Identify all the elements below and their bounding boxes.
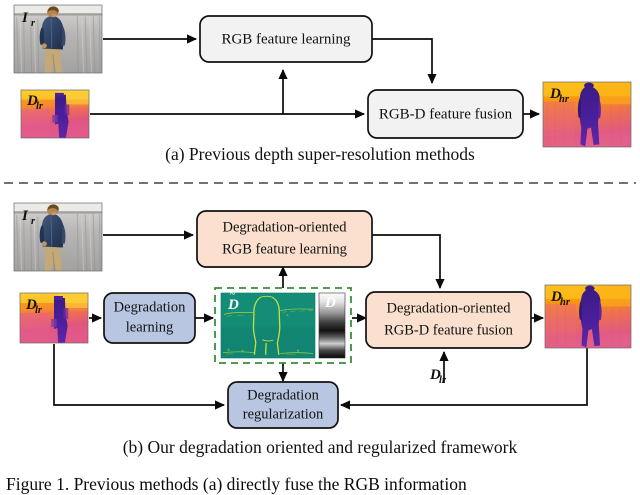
panel-b-dorff-line1: Degradation-oriented (386, 300, 511, 316)
degradation-colorbar: D (319, 293, 345, 358)
panel-b-caption: (b) Our degradation oriented and regular… (0, 437, 640, 458)
panel-b-dl-line1: Degradation (114, 299, 186, 315)
panel-b-block-degradation-learning[interactable]: Degradation learning (104, 293, 195, 343)
panel-b-rgb-input: I r (14, 203, 102, 271)
arrow-depthlr-to-regularization (54, 344, 224, 405)
panel-b-depth-hr-sub: hr (560, 297, 571, 308)
panel-b-dr-line1: Degradation (247, 387, 319, 403)
degradation-map-tilde: ~ (230, 288, 236, 300)
panel-a-block-rgb-feature-learning[interactable]: RGB feature learning (200, 16, 372, 62)
panel-a-block-rgb-d-feature-fusion-label: RGB-D feature fusion (379, 106, 513, 122)
panel-b-dl-line2: learning (126, 319, 174, 335)
panel-a-depth-hr-output: D hr (543, 82, 631, 147)
panel-a-depth-hr-sub: hr (559, 94, 570, 105)
panel-a-block-rgb-d-feature-fusion[interactable]: RGB-D feature fusion (368, 90, 523, 138)
panel-b-dorff-line2: RGB-D feature fusion (384, 322, 514, 338)
panel-b-depth-hr-output: D hr (545, 285, 631, 348)
panel-a-depth-lr-input: D lr (21, 90, 89, 138)
arrow-rgb-learning-to-fusion (372, 235, 440, 288)
panel-b-dorfl-line1: Degradation-oriented (222, 219, 347, 235)
panel-b-rgb-input-label: I (21, 208, 29, 224)
degradation-map: D ~ (221, 288, 315, 358)
panel-a-block-rgb-feature-learning-label: RGB feature learning (221, 31, 351, 47)
panel-a-caption: (a) Previous depth super-resolution meth… (0, 144, 640, 165)
panel-b-block-degradation-regularization[interactable]: Degradation regularization (228, 382, 338, 428)
panel-a-rgb-input: I r (14, 5, 102, 73)
panel-a-rgb-input-label: I (21, 10, 29, 26)
figure-1-diagram: I r D lr RGB feature learning RGB-D feat… (0, 0, 640, 495)
panel-b-block-degradation-oriented-rgb-d-feature-fusion[interactable]: Degradation-oriented RGB-D feature fusio… (366, 292, 531, 348)
panel-b-dorfl-line2: RGB feature learning (222, 241, 347, 257)
figure-caption: Figure 1. Previous methods (a) directly … (6, 474, 640, 495)
arrow-output-to-regularization (341, 348, 587, 405)
panel-b-depth-lr-sub: lr (35, 305, 43, 316)
panel-b-degradation-group: D ~ D (215, 288, 351, 363)
panel-a: I r D lr RGB feature learning RGB-D feat… (14, 5, 631, 147)
fusion-extra-input-sub: lr (439, 375, 447, 386)
panel-b-dr-line2: regularization (243, 406, 324, 422)
panel-a-depth-lr-sub: lr (36, 101, 44, 112)
panel-b: I r D lr Degradation-oriented R (14, 203, 631, 428)
degradation-colorbar-label: D (324, 295, 336, 311)
panel-b-depth-lr-input: D lr (20, 293, 88, 343)
panel-b-block-degradation-oriented-rgb-feature-learning[interactable]: Degradation-oriented RGB feature learnin… (197, 211, 372, 267)
arrow-learning-to-fusion (372, 39, 432, 83)
